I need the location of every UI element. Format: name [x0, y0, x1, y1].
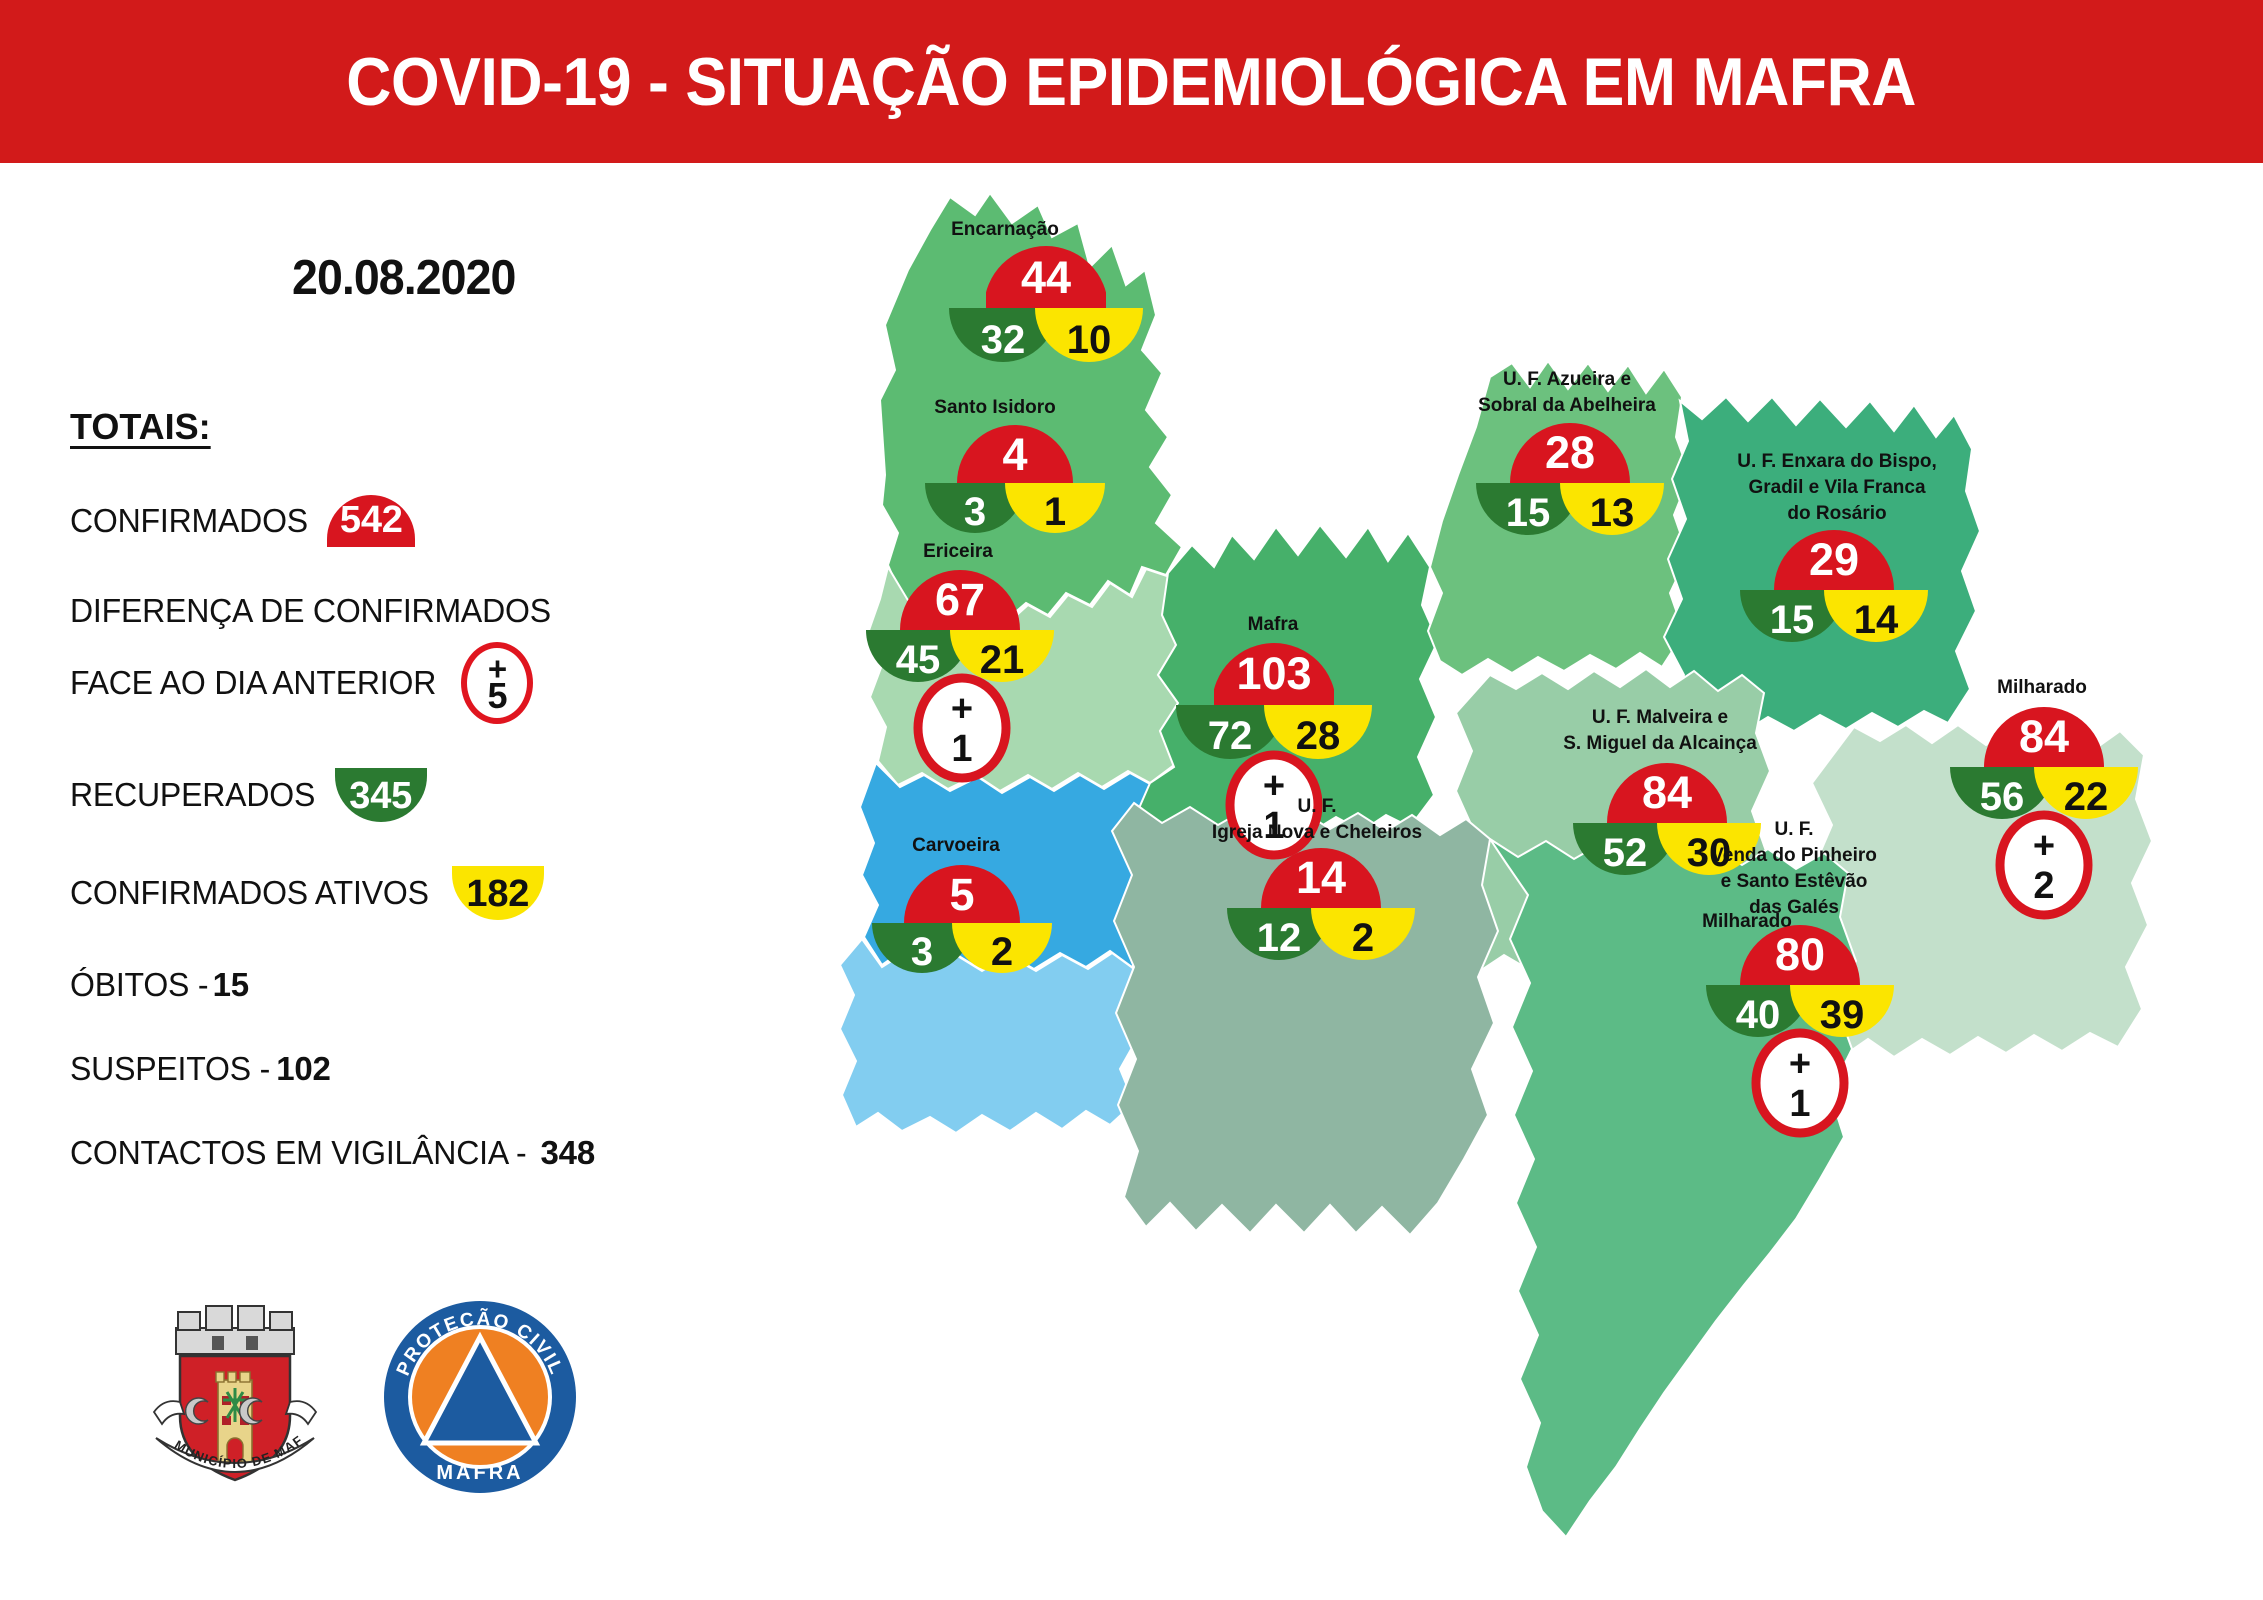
stat-confirmados-label: CONFIRMADOS [70, 502, 308, 540]
region-label-venda-1: U. F. [1774, 819, 1813, 840]
region-label-milharado: Milharado [1997, 677, 2087, 698]
page-title: COVID-19 - SITUAÇÃO EPIDEMIOLÓGICA EM MA… [347, 43, 1917, 121]
ericeira-confirmed-value: 67 [935, 574, 985, 625]
stat-confirmados-badge: 542 [327, 495, 415, 547]
region-label-azueira-2: Sobral da Abelheira [1478, 395, 1656, 416]
milharado-confirmed-value: 84 [2019, 711, 2069, 762]
protecao-civil-mafra-logo: PROTEÇÃO CIVIL MAFRA [380, 1297, 580, 1497]
map-svg: Milharado Encarnação 44 32 10 Santo Isid… [790, 175, 2250, 1575]
enxara-active-value: 14 [1854, 598, 1899, 642]
stat-diferenca-line1: DIFERENÇA DE CONFIRMADOS [70, 592, 870, 630]
region-label-venda-4: das Galés [1749, 897, 1839, 918]
header-banner: COVID-19 - SITUAÇÃO EPIDEMIOLÓGICA EM MA… [0, 0, 2263, 163]
region-label-enxara-1: U. F. Enxara do Bispo, [1737, 451, 1937, 472]
milharado-delta-badge: + 2 [2000, 815, 2088, 915]
protecao-civil-caption-bottom: MAFRA [436, 1462, 523, 1484]
region-label-santo-isidoro: Santo Isidoro [934, 397, 1055, 418]
stat-recuperados: RECUPERADOS 345 [70, 768, 870, 822]
venda-active-value: 39 [1820, 993, 1865, 1037]
region-label-carvoeira: Carvoeira [912, 835, 1000, 856]
azueira-active-value: 13 [1590, 491, 1635, 535]
stat-ativos-badge: 182 [452, 866, 544, 920]
region-label-encarnacao: Encarnação [951, 219, 1059, 240]
milharado-active-value: 22 [2064, 775, 2109, 819]
stat-vigilancia-value: 348 [541, 1134, 595, 1172]
venda-recovered-value: 40 [1736, 993, 1781, 1037]
stat-suspeitos-value: 102 [276, 1050, 330, 1088]
stat-suspeitos-label: SUSPEITOS - [70, 1050, 270, 1088]
region-label-azueira-1: U. F. Azueira e [1503, 369, 1631, 390]
plus-icon: + [1263, 765, 1285, 807]
region-label-ericeira: Ericeira [923, 541, 993, 562]
venda-confirmed-value: 80 [1775, 929, 1825, 980]
stat-recuperados-badge: 345 [335, 768, 427, 822]
stat-diferenca-badge: + 5 [461, 642, 533, 724]
malveira-recovered-value: 52 [1603, 831, 1648, 875]
santo-isidoro-confirmed-value: 4 [1002, 429, 1027, 480]
carvoeira-confirmed-value: 5 [949, 869, 974, 920]
ericeira-delta-badge: + 1 [918, 678, 1006, 778]
stat-obitos-label: ÓBITOS - [70, 966, 208, 1004]
municipio-de-mafra-logo: MUNICÍPIO DE MAFRA [140, 1292, 330, 1502]
azueira-recovered-value: 15 [1506, 491, 1551, 535]
stat-diferenca-line2: FACE AO DIA ANTERIOR + 5 [70, 642, 870, 724]
santo-isidoro-active-value: 1 [1044, 490, 1066, 534]
region-label-malveira-1: U. F. Malveira e [1592, 707, 1728, 728]
stat-recuperados-label: RECUPERADOS [70, 776, 315, 814]
region-label-venda-3: e Santo Estêvão [1721, 871, 1868, 892]
stat-ativos-label: CONFIRMADOS ATIVOS [70, 874, 429, 912]
ericeira-delta-value: 1 [951, 728, 972, 770]
region-label-malveira-2: S. Miguel da Alcainça [1563, 733, 1757, 754]
region-label-enxara-3: do Rosário [1787, 503, 1886, 524]
totals-heading: TOTAIS: [70, 406, 211, 448]
stat-diferenca-label-2: FACE AO DIA ANTERIOR [70, 664, 436, 702]
mafra-confirmed-value: 103 [1236, 648, 1311, 699]
logo-row: MUNICÍPIO DE MAFRA PROTEÇÃO CIVIL MAFRA [140, 1292, 580, 1502]
region-label-enxara-2: Gradil e Vila Franca [1748, 477, 1926, 498]
plus-icon: + [2033, 825, 2055, 867]
encarnacao-recovered-value: 32 [981, 318, 1026, 362]
milharado-delta-value: 2 [2033, 865, 2054, 907]
igreja-nova-recovered-value: 12 [1257, 916, 1302, 960]
stat-vigilancia-label: CONTACTOS EM VIGILÂNCIA - [70, 1134, 526, 1172]
igreja-nova-confirmed-value: 14 [1296, 852, 1346, 903]
stat-vigilancia: CONTACTOS EM VIGILÂNCIA - 348 [70, 1134, 870, 1172]
stat-obitos-value: 15 [213, 966, 249, 1004]
santo-isidoro-recovered-value: 3 [964, 490, 986, 534]
stat-confirmados: CONFIRMADOS 542 [70, 495, 870, 547]
region-label-igreja-nova-1: U. F. [1297, 796, 1336, 817]
infographic-page: { "header": { "title": "COVID-19 - SITUA… [0, 0, 2263, 1600]
encarnacao-confirmed-value: 44 [1021, 252, 1071, 303]
ericeira-active-value: 21 [980, 638, 1025, 682]
carvoeira-active-value: 2 [991, 930, 1013, 974]
mural-crown-icon [176, 1306, 294, 1354]
mafra-active-value: 28 [1296, 714, 1341, 758]
stat-obitos: ÓBITOS - 15 [70, 966, 870, 1004]
region-label-mafra: Mafra [1248, 614, 1299, 635]
venda-delta-badge: + 1 [1756, 1033, 1844, 1133]
mafra-recovered-value: 72 [1208, 714, 1253, 758]
enxara-recovered-value: 15 [1770, 598, 1815, 642]
plus-icon: + [1789, 1043, 1811, 1085]
enxara-confirmed-value: 29 [1809, 534, 1859, 585]
mafra-municipality-map: Milharado Encarnação 44 32 10 Santo Isid… [790, 175, 2250, 1575]
azueira-confirmed-value: 28 [1545, 427, 1595, 478]
stat-diferenca-value: 5 [488, 682, 508, 710]
milharado-recovered-value: 56 [1980, 775, 2025, 819]
stat-ativos: CONFIRMADOS ATIVOS 182 [70, 866, 870, 920]
plus-icon: + [951, 688, 973, 730]
stat-suspeitos: SUSPEITOS - 102 [70, 1050, 870, 1088]
encarnacao-active-value: 10 [1067, 318, 1112, 362]
ericeira-recovered-value: 45 [896, 638, 941, 682]
malveira-confirmed-value: 84 [1642, 767, 1692, 818]
totals-panel: 20.08.2020 TOTAIS: CONFIRMADOS 542 DIFER… [70, 250, 870, 1172]
stat-diferenca-label-1: DIFERENÇA DE CONFIRMADOS [70, 592, 551, 630]
venda-delta-value: 1 [1789, 1083, 1810, 1125]
carvoeira-recovered-value: 3 [911, 930, 933, 974]
region-label-igreja-nova-2: Igreja Nova e Cheleiros [1212, 822, 1422, 843]
region-label-venda-2: Venda do Pinheiro [1711, 845, 1877, 866]
igreja-nova-active-value: 2 [1352, 916, 1374, 960]
report-date: 20.08.2020 [292, 250, 841, 306]
